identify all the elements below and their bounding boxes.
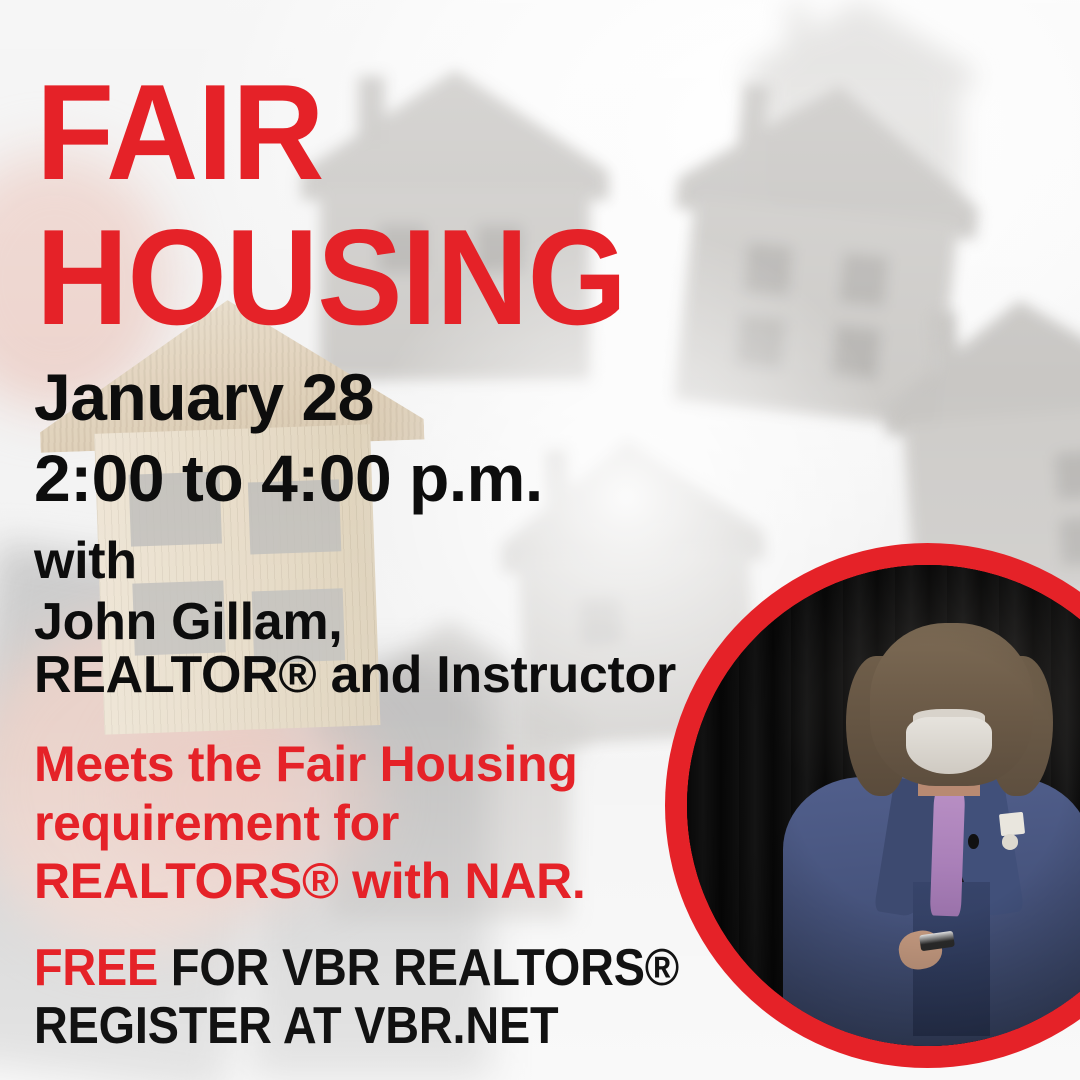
page-title-line-2: HOUSING [36, 211, 626, 344]
page-title-line-1: FAIR [36, 66, 323, 199]
requirement-line-3: REALTORS® with NAR. [34, 852, 684, 911]
event-date: January 28 [34, 357, 374, 438]
cta-pricing-line: FREE FOR VBR REALTORS® [34, 939, 679, 997]
event-time: 2:00 to 4:00 p.m. [34, 438, 543, 519]
cta-audience-label: FOR VBR REALTORS® [158, 939, 679, 997]
flyer-content: FAIR HOUSING January 28 2:00 to 4:00 p.m… [0, 0, 1080, 1080]
presenter-prefix: with [34, 531, 137, 592]
cta-register-line: REGISTER AT VBR.NET [34, 997, 558, 1055]
presenter-portrait-ring [665, 543, 1080, 1068]
presenter-portrait-photo [687, 565, 1080, 1046]
portrait-vignette [687, 565, 1080, 1046]
requirement-line-2: requirement for [34, 794, 684, 853]
cta-free-label: FREE [34, 939, 158, 997]
requirement-line-1: Meets the Fair Housing [34, 735, 684, 794]
presenter-role: REALTOR® and Instructor [34, 645, 676, 706]
requirement-note: Meets the Fair Housing requirement for R… [34, 735, 684, 911]
fair-housing-flyer: FAIR HOUSING January 28 2:00 to 4:00 p.m… [0, 0, 1080, 1080]
